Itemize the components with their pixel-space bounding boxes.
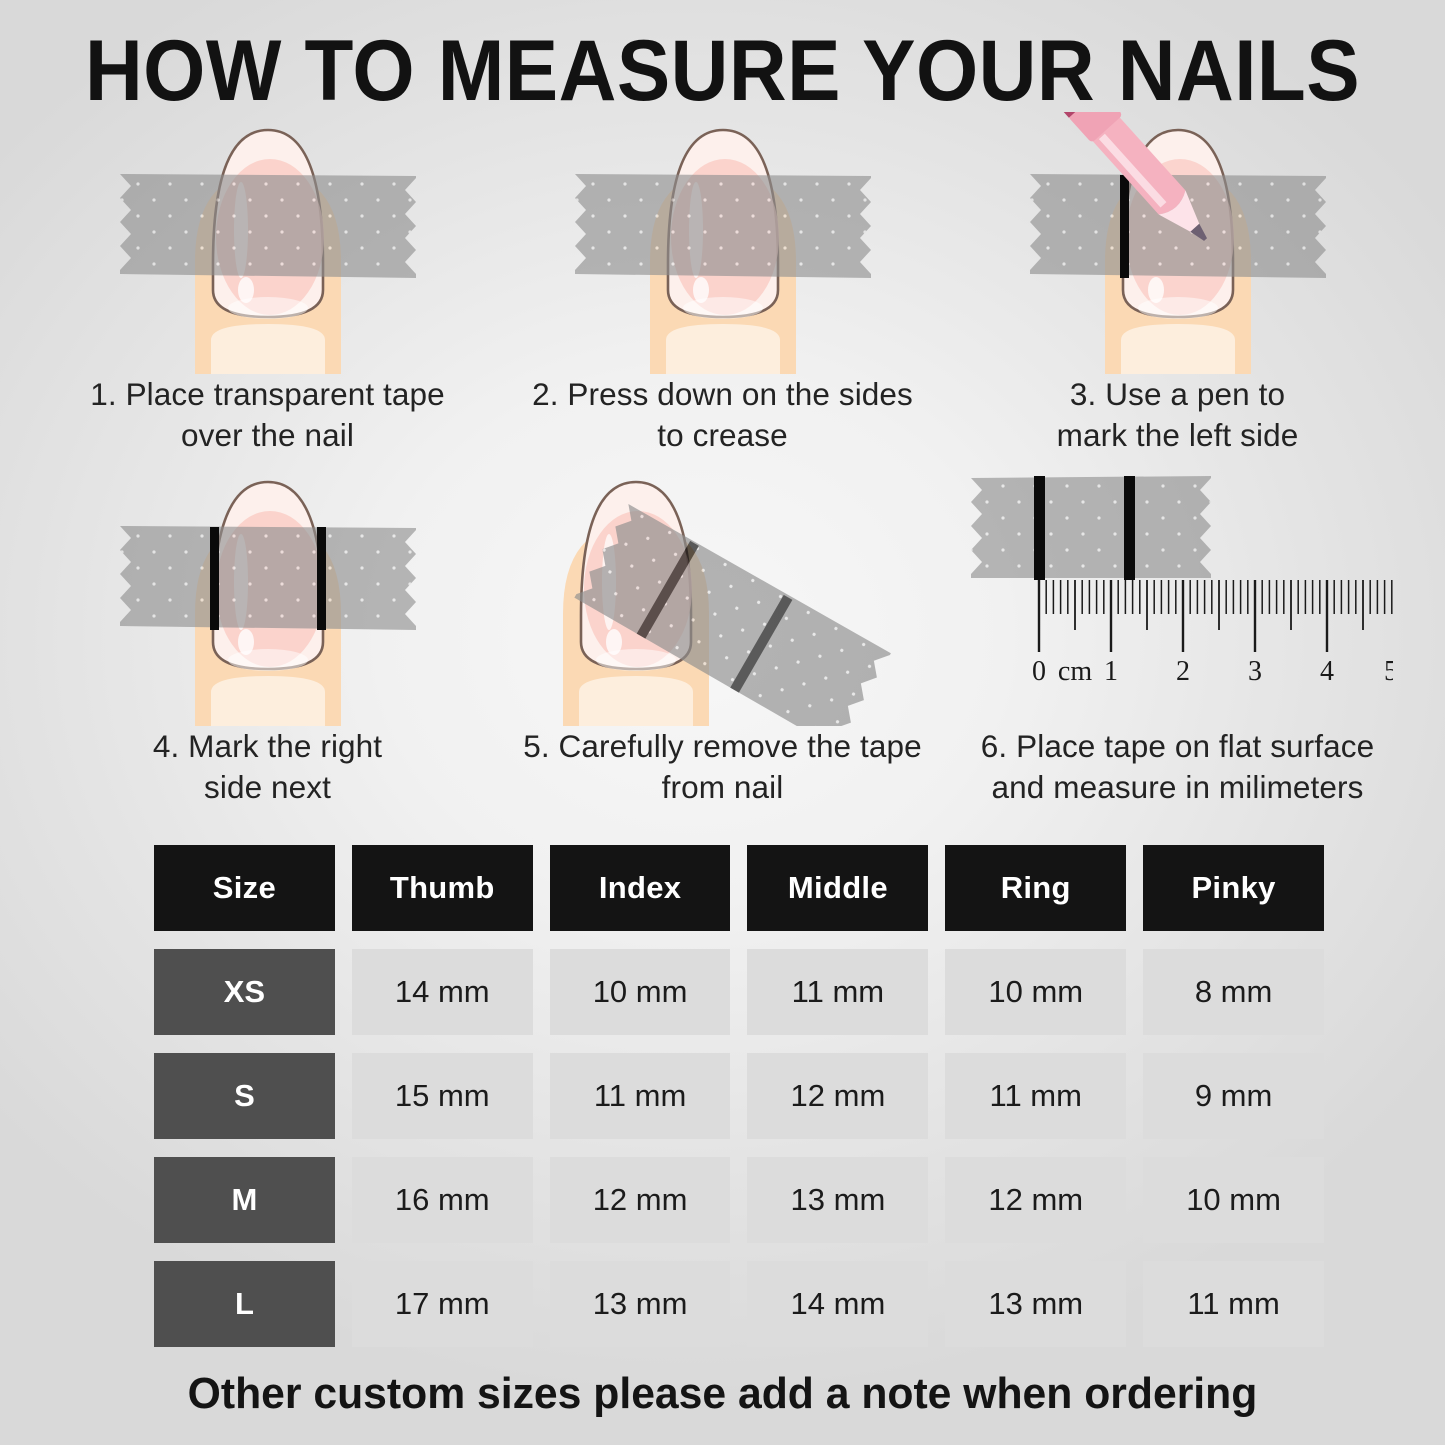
table-cell-xs-middle: 11 mm [747,949,928,1035]
table-row-size-xs: XS [154,949,335,1035]
step-2-caption: 2. Press down on the sides to crease [495,374,950,456]
footer-note: Other custom sizes please add a note whe… [22,1369,1424,1419]
table-header-thumb: Thumb [352,845,533,931]
step-4-line-1: 4. Mark the right [40,726,495,767]
step-6: 0 cm 1 2 3 4 5 6. Place tape on flat sur… [950,464,1405,816]
nail-with-tape-icon [40,112,495,374]
ruler-tick-1: 1 [1104,656,1118,687]
table-cell-xs-ring: 10 mm [945,949,1126,1035]
step-3-line-1: 3. Use a pen to [950,374,1405,415]
tape-on-ruler-icon: 0 cm 1 2 3 4 5 [950,464,1405,726]
step-5-caption: 5. Carefully remove the tape from nail [495,726,950,808]
table-cell-s-middle: 12 mm [747,1053,928,1139]
table-cell-s-ring: 11 mm [945,1053,1126,1139]
step-6-caption: 6. Place tape on flat surface and measur… [950,726,1405,808]
step-4-line-2: side next [40,767,495,808]
ruler-tick-3: 3 [1248,656,1262,687]
step-3-line-2: mark the left side [950,415,1405,456]
step-4-caption: 4. Mark the right side next [40,726,495,808]
ruler-unit-label: cm [1057,656,1091,687]
table-cell-xs-pinky: 8 mm [1143,949,1324,1035]
steps-grid: 1. Place transparent tape over the nail [40,112,1405,816]
table-cell-m-thumb: 16 mm [352,1157,533,1243]
table-cell-m-ring: 12 mm [945,1157,1126,1243]
nail-with-two-marks-icon [40,464,495,726]
step-5-line-2: from nail [495,767,950,808]
tape-removed-from-nail-icon [495,464,950,726]
right-mark [1124,476,1135,580]
table-header-pinky: Pinky [1143,845,1324,931]
right-mark [317,527,326,630]
table-cell-xs-thumb: 14 mm [352,949,533,1035]
table-header-middle: Middle [747,845,928,931]
table-cell-l-thumb: 17 mm [352,1261,533,1347]
table-cell-s-index: 11 mm [550,1053,731,1139]
step-6-line-2: and measure in milimeters [950,767,1405,808]
table-cell-l-pinky: 11 mm [1143,1261,1324,1347]
left-mark [210,527,219,630]
ruler-labels: 0 cm 1 2 3 4 5 [1032,656,1393,687]
step-1: 1. Place transparent tape over the nail [40,112,495,464]
table-cell-l-ring: 13 mm [945,1261,1126,1347]
ruler-tick-2: 2 [1176,656,1190,687]
table-cell-s-pinky: 9 mm [1143,1053,1324,1139]
table-header-index: Index [550,845,731,931]
step-2-line-2: to crease [495,415,950,456]
table-row-size-l: L [154,1261,335,1347]
step-2: 2. Press down on the sides to crease [495,112,950,464]
table-row-size-s: S [154,1053,335,1139]
step-5: 5. Carefully remove the tape from nail [495,464,950,816]
ruler-tick-4: 4 [1320,656,1334,687]
step-1-line-2: over the nail [40,415,495,456]
table-cell-m-pinky: 10 mm [1143,1157,1324,1243]
ruler-tick-5: 5 [1384,656,1393,687]
ruler-ticks [1039,580,1393,652]
table-cell-xs-index: 10 mm [550,949,731,1035]
table-cell-m-index: 12 mm [550,1157,731,1243]
step-3-caption: 3. Use a pen to mark the left side [950,374,1405,456]
size-table: Size Thumb Index Middle Ring Pinky XS 14… [154,836,1324,1356]
ruler-tick-0: 0 [1032,656,1046,687]
step-3: 3. Use a pen to mark the left side [950,112,1405,464]
step-5-line-1: 5. Carefully remove the tape [495,726,950,767]
nail-with-pen-icon [950,112,1405,374]
left-mark [1034,476,1045,580]
step-4: 4. Mark the right side next [40,464,495,816]
table-cell-m-middle: 13 mm [747,1157,928,1243]
left-mark [1120,175,1129,278]
step-2-line-1: 2. Press down on the sides [495,374,950,415]
table-cell-l-middle: 14 mm [747,1261,928,1347]
step-1-caption: 1. Place transparent tape over the nail [40,374,495,456]
step-1-line-1: 1. Place transparent tape [40,374,495,415]
step-6-line-1: 6. Place tape on flat surface [950,726,1405,767]
nail-with-creased-tape-icon [495,112,950,374]
table-row-size-m: M [154,1157,335,1243]
page-title: HOW TO MEASURE YOUR NAILS [51,22,1395,121]
table-cell-s-thumb: 15 mm [352,1053,533,1139]
table-header-ring: Ring [945,845,1126,931]
table-header-size: Size [154,845,335,931]
table-cell-l-index: 13 mm [550,1261,731,1347]
